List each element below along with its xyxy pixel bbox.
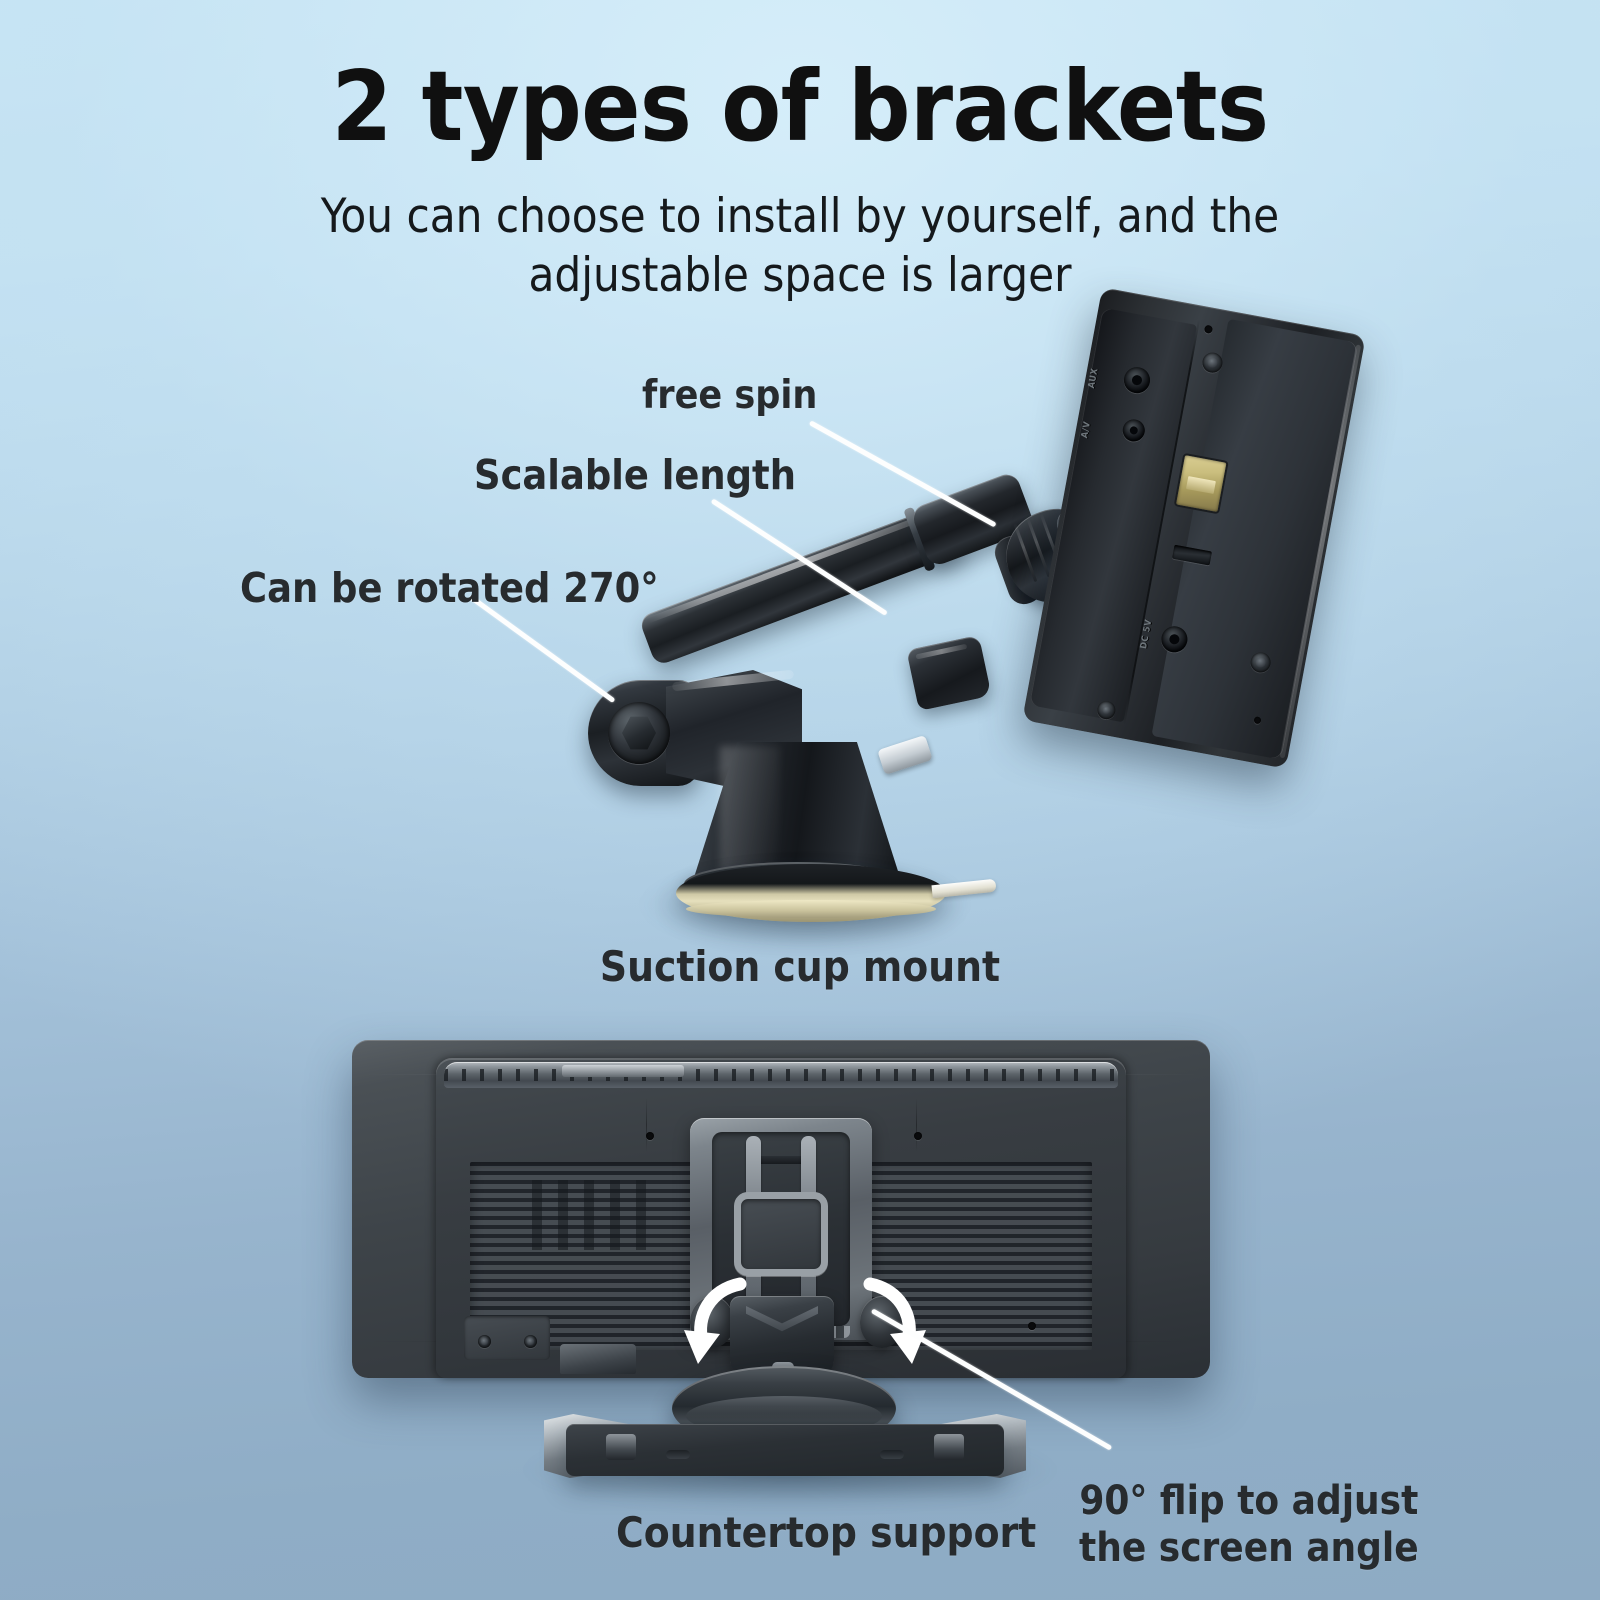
base-plate-screw-left [666, 1450, 690, 1459]
side-tab [560, 1344, 636, 1374]
screw-icon [524, 1335, 537, 1348]
top-strip-chip [562, 1065, 684, 1077]
screw-icon [478, 1335, 491, 1348]
clip-window [734, 1192, 828, 1276]
speaker-perforations [532, 1180, 652, 1250]
caption-countertop-support: Countertop support [616, 1508, 1036, 1558]
vent-notches [444, 1069, 1118, 1081]
top-vent-strip [444, 1062, 1118, 1088]
countertop-support-figure: Countertop support 90° flip to adjust th… [0, 0, 1600, 1600]
rotate-arrow-left-icon [680, 1272, 784, 1376]
panel-seam [916, 1098, 917, 1152]
screw-pinhole [914, 1132, 922, 1140]
callout-flip-90: 90° flip to adjust the screen angle [1079, 1478, 1419, 1572]
panel-seam [646, 1098, 647, 1152]
rotate-arrow-right-icon [826, 1272, 930, 1376]
base-plate-foot-left [606, 1434, 636, 1460]
screw-pinhole [1028, 1322, 1036, 1330]
base-plate-foot-right [934, 1434, 964, 1460]
countertop-base-plate [544, 1414, 1026, 1482]
base-plate-screw-right [880, 1450, 904, 1459]
product-infographic: 2 types of brackets You can choose to in… [0, 0, 1600, 1600]
screw-pinhole [646, 1132, 654, 1140]
label-plate [464, 1316, 550, 1360]
